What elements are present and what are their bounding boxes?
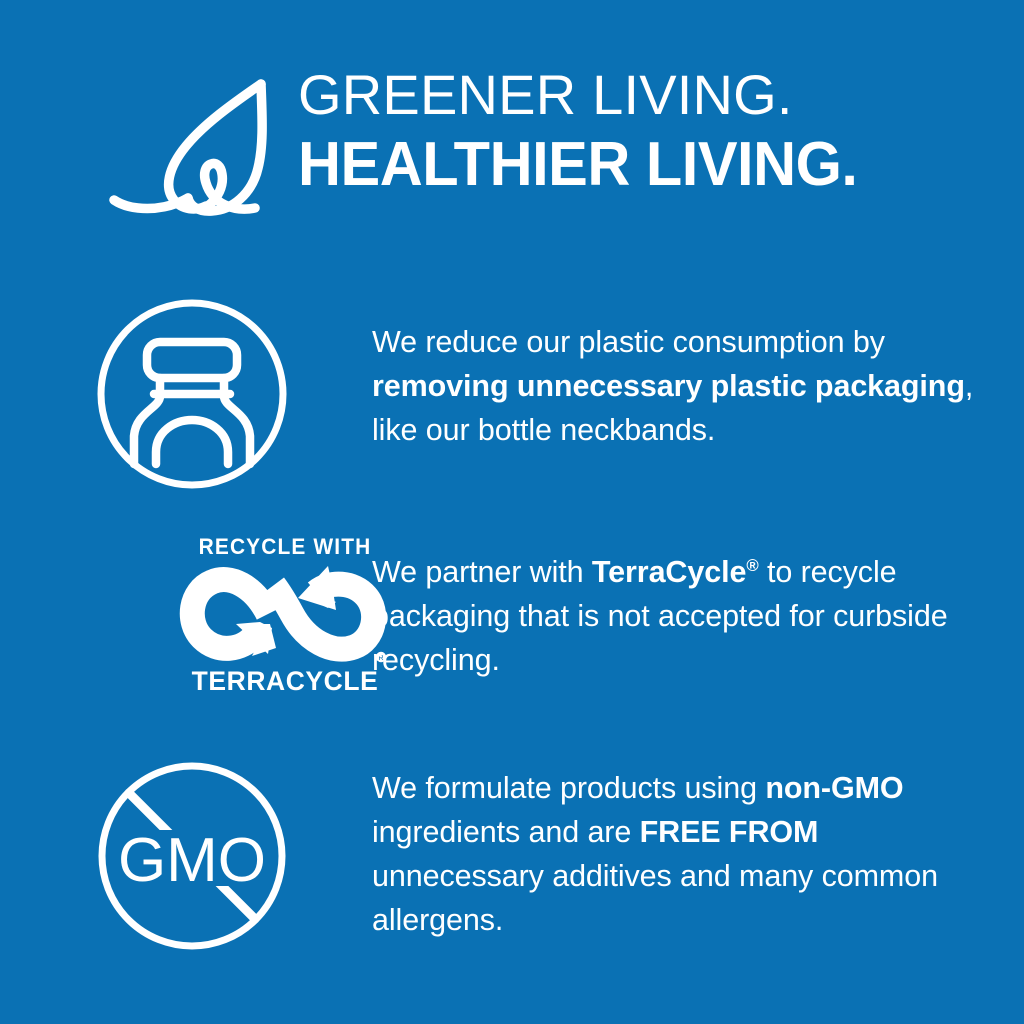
bottle-neckband-icon xyxy=(92,296,298,496)
benefit-row-plastic: We reduce our plastic consumption by rem… xyxy=(0,296,1024,496)
text-part-bold: removing unnecessary plastic packaging xyxy=(372,369,965,403)
terracycle-logo: RECYCLE WITH xyxy=(92,528,298,718)
text-part: unnecessary additives and many common al… xyxy=(372,859,938,937)
benefit-text-gmo: We formulate products using non-GMO ingr… xyxy=(372,766,992,942)
benefit-row-gmo: GMO We formulate products using non-GMO … xyxy=(0,752,1024,960)
gmo-label: GMO xyxy=(118,826,266,895)
headline-block: GREENER LIVING. HEALTHIER LIVING. xyxy=(298,62,998,202)
leaf-icon xyxy=(112,70,292,232)
terracycle-lockup: RECYCLE WITH xyxy=(176,534,394,696)
text-part: ingredients and are xyxy=(372,815,640,849)
infinity-recycle-arrows-icon: R xyxy=(176,562,394,666)
text-part-bold: non-GMO xyxy=(765,771,903,805)
text-part-bold: TerraCycle xyxy=(592,555,746,589)
headline-line-1: GREENER LIVING. xyxy=(298,62,998,128)
registered-mark: ® xyxy=(746,556,758,575)
text-part: We reduce our plastic consumption by xyxy=(372,325,885,359)
text-part-bold: FREE FROM xyxy=(640,815,819,849)
text-part: We formulate products using xyxy=(372,771,765,805)
headline-line-2: HEALTHIER LIVING. xyxy=(298,128,970,202)
benefit-text-plastic: We reduce our plastic consumption by rem… xyxy=(372,320,992,452)
terracycle-top-text: RECYCLE WITH xyxy=(181,534,388,560)
greener-living-poster: GREENER LIVING. HEALTHIER LIVING. xyxy=(0,0,1024,1024)
text-part: We partner with xyxy=(372,555,592,589)
poster-header: GREENER LIVING. HEALTHIER LIVING. xyxy=(0,62,1024,232)
terracycle-bottom-text: TERRACYCLE xyxy=(178,666,392,696)
benefit-text-terracycle: We partner with TerraCycle® to recycle p… xyxy=(372,550,992,682)
benefit-row-terracycle: RECYCLE WITH xyxy=(0,528,1024,718)
no-gmo-icon: GMO xyxy=(92,752,298,960)
